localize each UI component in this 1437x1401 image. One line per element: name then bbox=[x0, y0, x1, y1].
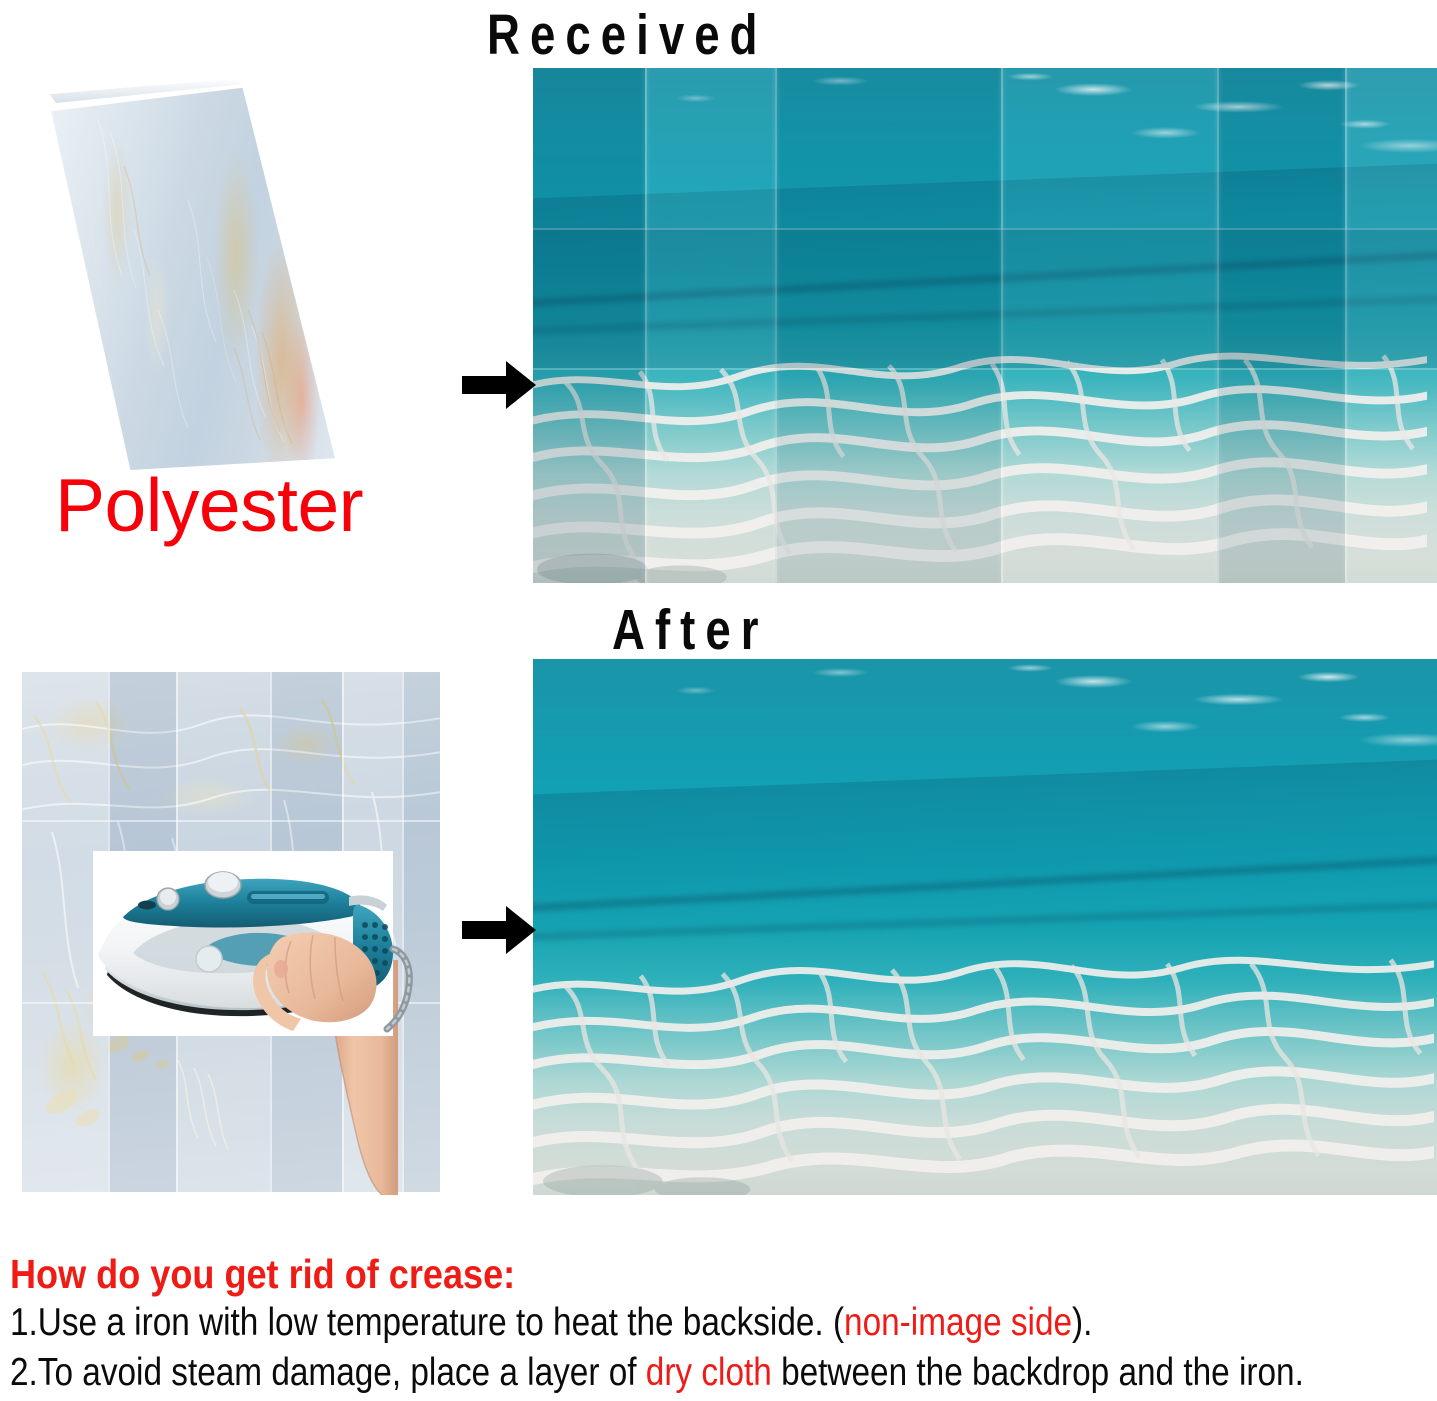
step2-highlight: dry cloth bbox=[646, 1351, 772, 1394]
crease-line-horizontal bbox=[533, 368, 1437, 370]
steam-iron-icon bbox=[87, 849, 417, 1049]
arrow-right-icon bbox=[460, 903, 538, 957]
instruction-step-1: 1.Use a iron with low temperature to hea… bbox=[10, 1300, 1230, 1345]
folded-polyester-swatch bbox=[18, 70, 428, 480]
step1-pre: 1.Use a iron with low temperature to hea… bbox=[10, 1301, 844, 1344]
arrow-right-icon bbox=[460, 358, 538, 412]
swatch-sheet bbox=[38, 80, 368, 470]
crease-line-horizontal bbox=[22, 820, 440, 822]
after-title: After bbox=[612, 597, 769, 663]
instructions-block: How do you get rid of crease: 1.Use a ir… bbox=[10, 1252, 1437, 1395]
polyester-label: Polyester bbox=[55, 462, 363, 548]
received-title: Received bbox=[487, 2, 768, 68]
seabed-caustics bbox=[533, 938, 1434, 1195]
after-photo bbox=[533, 659, 1437, 1195]
crease-line-horizontal bbox=[533, 228, 1437, 230]
received-photo bbox=[533, 68, 1437, 583]
step1-highlight: non-image side bbox=[844, 1301, 1072, 1344]
step1-post: ). bbox=[1072, 1301, 1092, 1344]
iron-photo-card bbox=[93, 851, 393, 1036]
instruction-step-2: 2.To avoid steam damage, place a layer o… bbox=[10, 1350, 1230, 1395]
fold-band-horizontal bbox=[533, 228, 1437, 368]
swatch-fibre-texture bbox=[38, 80, 368, 470]
step2-post: between the backdrop and the iron. bbox=[772, 1351, 1304, 1394]
step2-pre: 2.To avoid steam damage, place a layer o… bbox=[10, 1351, 646, 1394]
instructions-heading: How do you get rid of crease: bbox=[10, 1252, 1266, 1296]
crease-overlay bbox=[533, 68, 1437, 583]
